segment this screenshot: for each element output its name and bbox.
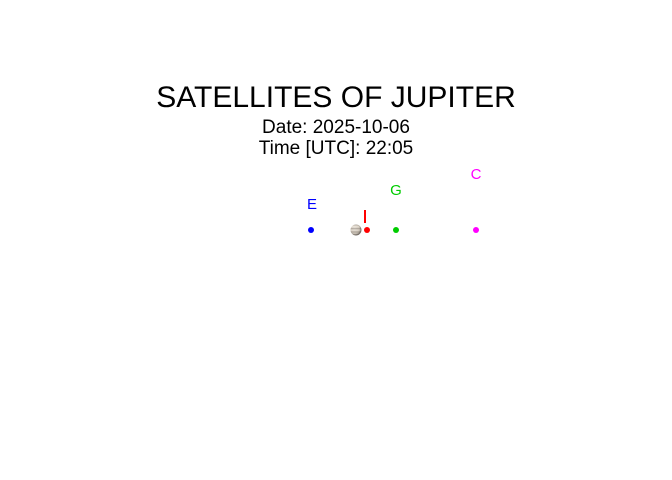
moon-marker-ganymede	[393, 227, 399, 233]
jupiter-disk	[351, 225, 362, 236]
moon-label-ganymede: G	[390, 183, 402, 198]
moon-marker-callisto	[473, 227, 479, 233]
moon-label-io	[364, 210, 366, 223]
moon-label-callisto: C	[471, 167, 482, 182]
moon-label-europa: E	[307, 197, 317, 212]
sky-plot-area: E G C	[0, 0, 672, 480]
moon-marker-europa	[308, 227, 314, 233]
satellites-of-jupiter-view: SATELLITES OF JUPITER Date: 2025-10-06 T…	[0, 0, 672, 480]
moon-marker-io	[364, 227, 370, 233]
